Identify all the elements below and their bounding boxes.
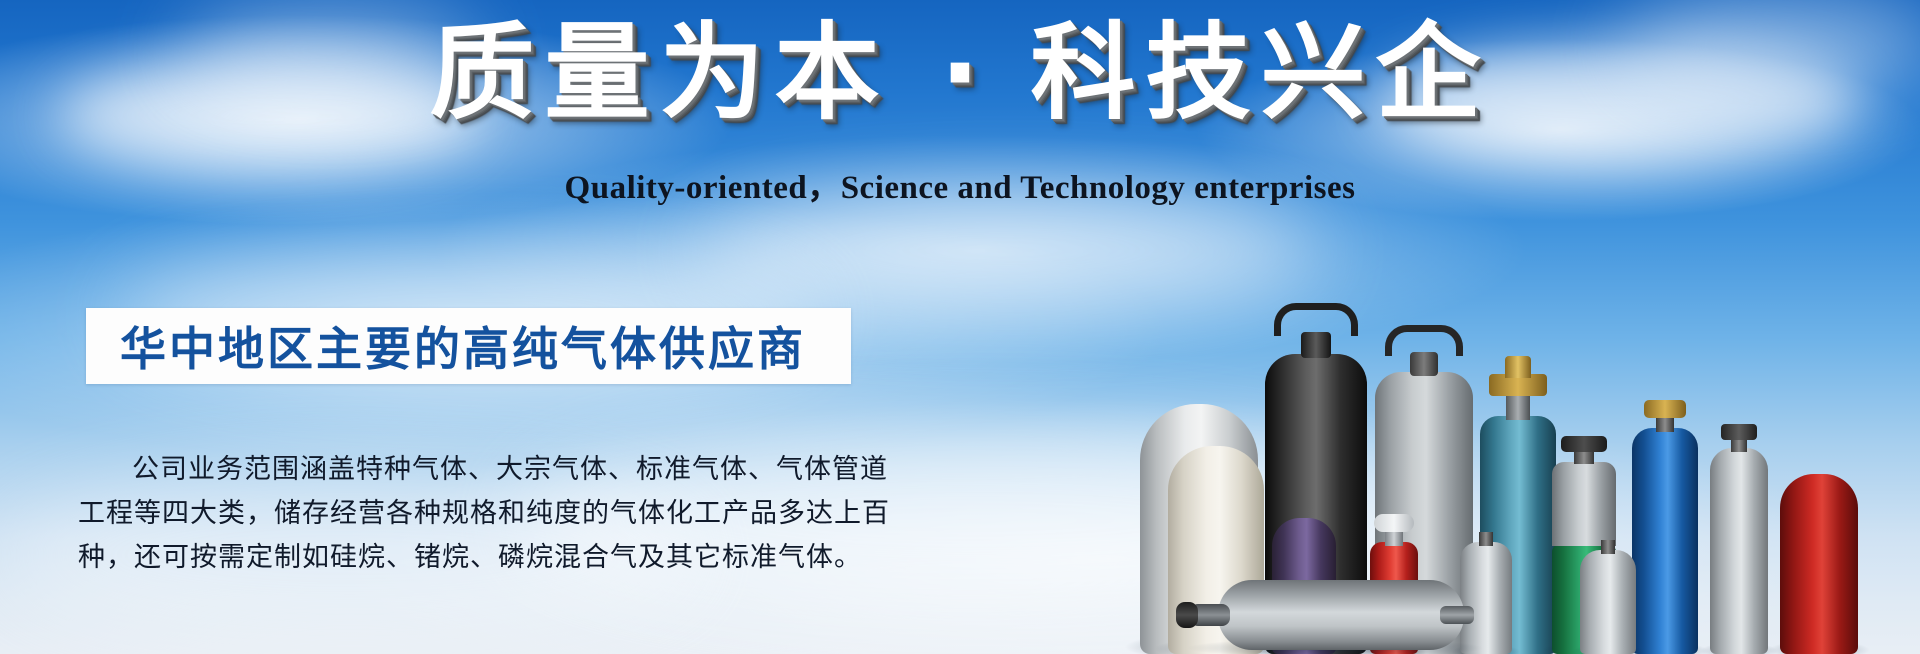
headline-left: 质量为本: [429, 12, 889, 134]
headline: 质量为本 · 科技兴企: [0, 18, 1920, 128]
description-paragraph: 公司业务范围涵盖特种气体、大宗气体、标准气体、气体管道 工程等四大类，储存经营各…: [78, 448, 868, 580]
cylinder-handle: [1274, 303, 1358, 336]
cylinder-valve: [1721, 424, 1757, 440]
dark-red-cylinder: [1780, 474, 1858, 654]
paragraph-line: 种，还可按需定制如硅烷、锗烷、磷烷混合气及其它标准气体。: [78, 536, 868, 580]
paragraph-line: 公司业务范围涵盖特种气体、大宗气体、标准气体、气体管道: [78, 448, 868, 492]
cylinder-valve: [1561, 436, 1607, 452]
headline-separator: ·: [936, 12, 984, 134]
paragraph-line: 工程等四大类，储存经营各种规格和纯度的气体化工产品多达上百: [78, 492, 868, 536]
cylinder-valve: [1644, 400, 1686, 418]
cylinder-valve: [1374, 514, 1414, 532]
valve-knob: [1505, 356, 1531, 378]
highlight-box: 华中地区主要的高纯气体供应商: [86, 308, 851, 384]
silver-cylinder: [1580, 536, 1636, 654]
promo-banner: 质量为本 · 科技兴企 Quality-oriented，Science and…: [0, 0, 1920, 654]
cylinder-handle: [1385, 325, 1463, 356]
gas-cylinder-lineup: [1180, 170, 1920, 654]
silver-cylinder: [1710, 416, 1768, 654]
highlight-box-text: 华中地区主要的高纯气体供应商: [86, 313, 806, 379]
headline-right: 科技兴企: [1031, 12, 1491, 134]
horizontal-grey-tank: [1190, 580, 1480, 650]
blue-cylinder: [1632, 392, 1698, 654]
